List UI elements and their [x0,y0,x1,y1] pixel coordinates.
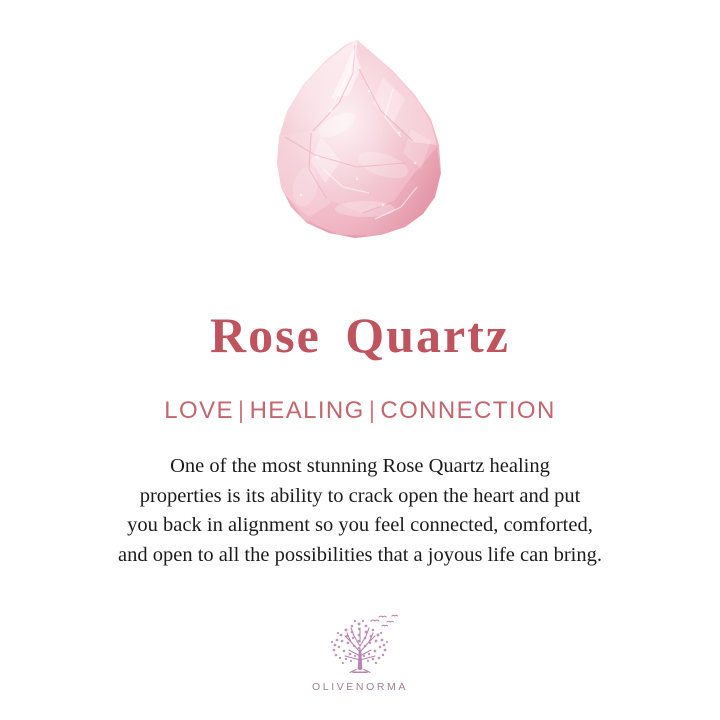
keyword-separator: | [234,397,250,424]
brand-logo: OLIVENORMA [0,612,720,693]
keyword-love: LOVE [164,397,234,424]
brand-name: OLIVENORMA [312,681,408,693]
rose-quartz-crystal-image [265,37,455,252]
description-line: One of the most stunning Rose Quartz hea… [26,452,694,482]
tree-of-life-icon [321,612,399,678]
keyword-separator: | [365,397,381,424]
keyword-connection: CONNECTION [380,397,555,424]
page-title: Rose Quartz [0,308,720,362]
description-line: you back in alignment so you feel connec… [26,511,694,541]
description-line: and open to all the possibilities that a… [26,541,694,571]
keyword-list: LOVE|HEALING|CONNECTION [0,397,720,425]
birds-icon [371,615,398,626]
description-paragraph: One of the most stunning Rose Quartz hea… [26,452,694,570]
description-line: properties is its ability to crack open … [26,482,694,512]
crystal-body [265,37,455,252]
product-info-card: Rose Quartz LOVE|HEALING|CONNECTION One … [0,0,720,720]
hero-image-container [0,0,720,286]
keyword-healing: HEALING [250,397,365,424]
